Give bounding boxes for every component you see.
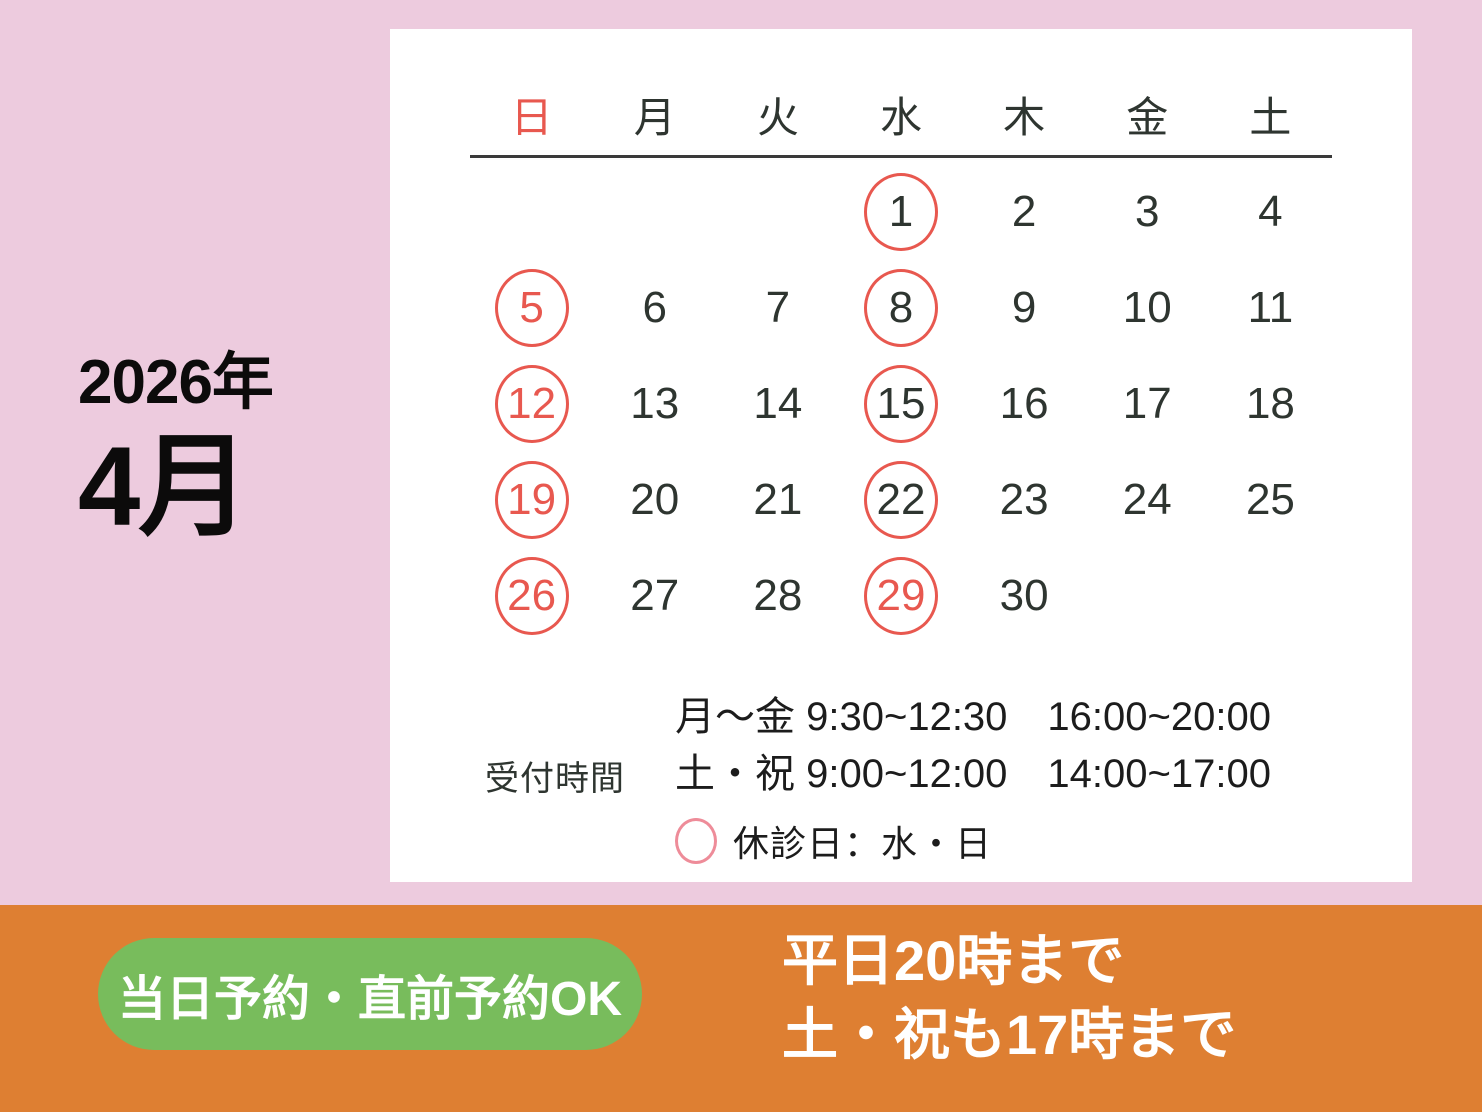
- calendar-day-number: 6: [642, 286, 666, 330]
- weekday-header-cell: 土: [1209, 79, 1332, 149]
- calendar-day-cell[interactable]: 20: [593, 452, 716, 548]
- circle-icon: [675, 818, 717, 864]
- banner-line-weekend: 土・祝も17時まで: [782, 998, 1422, 1072]
- calendar-empty-cell: [593, 164, 716, 260]
- calendar-day-cell[interactable]: 2: [963, 164, 1086, 260]
- weekday-header-cell: 金: [1086, 79, 1209, 149]
- header-divider: [470, 155, 1332, 158]
- calendar-day-cell[interactable]: 10: [1086, 260, 1209, 356]
- calendar-week-row: 1234: [470, 164, 1332, 260]
- same-day-booking-label: 当日予約・直前予約OK: [118, 959, 622, 1029]
- weekday-header-row: 日月火水木金土: [470, 79, 1332, 149]
- calendar-day-number: 10: [1123, 286, 1172, 330]
- calendar-day-number: 5: [519, 286, 543, 330]
- calendar-day-cell[interactable]: 1: [839, 164, 962, 260]
- calendar-day-number: 27: [630, 574, 679, 618]
- calendar-day-number: 18: [1246, 382, 1295, 426]
- calendar-day-cell[interactable]: 16: [963, 356, 1086, 452]
- calendar-day-cell[interactable]: 7: [716, 260, 839, 356]
- calendar-day-cell[interactable]: 27: [593, 548, 716, 644]
- calendar-day-cell[interactable]: 26: [470, 548, 593, 644]
- calendar-day-number: 4: [1258, 190, 1282, 234]
- calendar-day-number: 12: [507, 382, 556, 426]
- weekday-header-cell: 月: [593, 79, 716, 149]
- calendar-day-number: 13: [630, 382, 679, 426]
- calendar-day-cell[interactable]: 28: [716, 548, 839, 644]
- weekday-label: 木: [1003, 84, 1045, 145]
- calendar-day-number: 8: [889, 286, 913, 330]
- calendar-day-cell[interactable]: 13: [593, 356, 716, 452]
- reception-hours-block: 受付時間 月〜金 9:30~12:30 16:00~20:00 土・祝 9:00…: [485, 689, 1385, 867]
- calendar-day-number: 30: [1000, 574, 1049, 618]
- calendar-day-cell[interactable]: 4: [1209, 164, 1332, 260]
- calendar-day-number: 3: [1135, 190, 1159, 234]
- calendar-day-cell[interactable]: 19: [470, 452, 593, 548]
- calendar-weeks: 1234567891011121314151617181920212223242…: [470, 164, 1332, 644]
- calendar-day-cell[interactable]: 17: [1086, 356, 1209, 452]
- calendar-day-number: 24: [1123, 478, 1172, 522]
- weekday-label: 水: [880, 84, 922, 145]
- calendar-day-number: 15: [877, 382, 926, 426]
- weekday-header-cell: 日: [470, 79, 593, 149]
- calendar-day-cell[interactable]: 24: [1086, 452, 1209, 548]
- weekday-header-cell: 火: [716, 79, 839, 149]
- calendar-card: 日月火水木金土 12345678910111213141516171819202…: [390, 29, 1412, 882]
- calendar-day-number: 16: [1000, 382, 1049, 426]
- calendar-day-number: 14: [753, 382, 802, 426]
- closed-days-label: 休診日：水・日: [733, 815, 992, 867]
- hours-line-weekday: 月〜金 9:30~12:30 16:00~20:00: [675, 689, 1385, 746]
- calendar-day-cell[interactable]: 11: [1209, 260, 1332, 356]
- calendar-day-cell[interactable]: 12: [470, 356, 593, 452]
- calendar-week-row: 567891011: [470, 260, 1332, 356]
- weekday-header-cell: 木: [963, 79, 1086, 149]
- calendar-day-number: 7: [766, 286, 790, 330]
- weekday-label: 金: [1126, 84, 1168, 145]
- calendar-day-number: 23: [1000, 478, 1049, 522]
- calendar-grid: 日月火水木金土 12345678910111213141516171819202…: [470, 79, 1332, 644]
- calendar-day-number: 9: [1012, 286, 1036, 330]
- calendar-empty-cell: [1086, 548, 1209, 644]
- calendar-day-number: 19: [507, 478, 556, 522]
- calendar-week-row: 19202122232425: [470, 452, 1332, 548]
- calendar-day-cell[interactable]: 21: [716, 452, 839, 548]
- calendar-day-cell[interactable]: 9: [963, 260, 1086, 356]
- weekday-label: 日: [511, 84, 553, 145]
- same-day-booking-button[interactable]: 当日予約・直前予約OK: [98, 938, 642, 1050]
- banner-line-weekday: 平日20時まで: [782, 924, 1422, 998]
- calendar-day-cell[interactable]: 5: [470, 260, 593, 356]
- calendar-day-cell[interactable]: 3: [1086, 164, 1209, 260]
- calendar-day-cell[interactable]: 15: [839, 356, 962, 452]
- calendar-day-cell[interactable]: 29: [839, 548, 962, 644]
- weekday-label: 月: [634, 84, 676, 145]
- weekday-label: 土: [1249, 84, 1291, 145]
- reception-hours-label: 受付時間: [485, 689, 675, 800]
- calendar-day-number: 29: [877, 574, 926, 618]
- calendar-day-number: 11: [1248, 286, 1294, 330]
- calendar-empty-cell: [1209, 548, 1332, 644]
- hours-line-saturday-holiday: 土・祝 9:00~12:00 14:00~17:00: [675, 746, 1385, 803]
- calendar-day-cell[interactable]: 18: [1209, 356, 1332, 452]
- calendar-day-cell[interactable]: 30: [963, 548, 1086, 644]
- calendar-day-number: 25: [1246, 478, 1295, 522]
- month-block: 2026年 4月: [78, 352, 378, 546]
- calendar-day-cell[interactable]: 23: [963, 452, 1086, 548]
- calendar-day-number: 17: [1123, 382, 1172, 426]
- weekday-header-cell: 水: [839, 79, 962, 149]
- calendar-day-number: 21: [753, 478, 802, 522]
- calendar-day-cell[interactable]: 22: [839, 452, 962, 548]
- calendar-day-number: 26: [507, 574, 556, 618]
- calendar-day-number: 22: [877, 478, 926, 522]
- year-label: 2026年: [78, 352, 378, 414]
- calendar-day-number: 28: [753, 574, 802, 618]
- calendar-week-row: 2627282930: [470, 548, 1332, 644]
- calendar-day-cell[interactable]: 25: [1209, 452, 1332, 548]
- month-label: 4月: [78, 428, 378, 546]
- calendar-day-cell[interactable]: 14: [716, 356, 839, 452]
- calendar-empty-cell: [470, 164, 593, 260]
- calendar-day-number: 1: [889, 190, 913, 234]
- calendar-week-row: 12131415161718: [470, 356, 1332, 452]
- reception-hours-lines: 月〜金 9:30~12:30 16:00~20:00 土・祝 9:00~12:0…: [675, 689, 1385, 867]
- calendar-day-number: 2: [1012, 190, 1036, 234]
- calendar-day-number: 20: [630, 478, 679, 522]
- calendar-day-cell[interactable]: 8: [839, 260, 962, 356]
- calendar-empty-cell: [716, 164, 839, 260]
- calendar-day-cell[interactable]: 6: [593, 260, 716, 356]
- weekday-label: 火: [757, 84, 799, 145]
- banner-text-block: 平日20時まで 土・祝も17時まで: [782, 924, 1422, 1073]
- closed-days-legend: 休診日：水・日: [675, 815, 1385, 867]
